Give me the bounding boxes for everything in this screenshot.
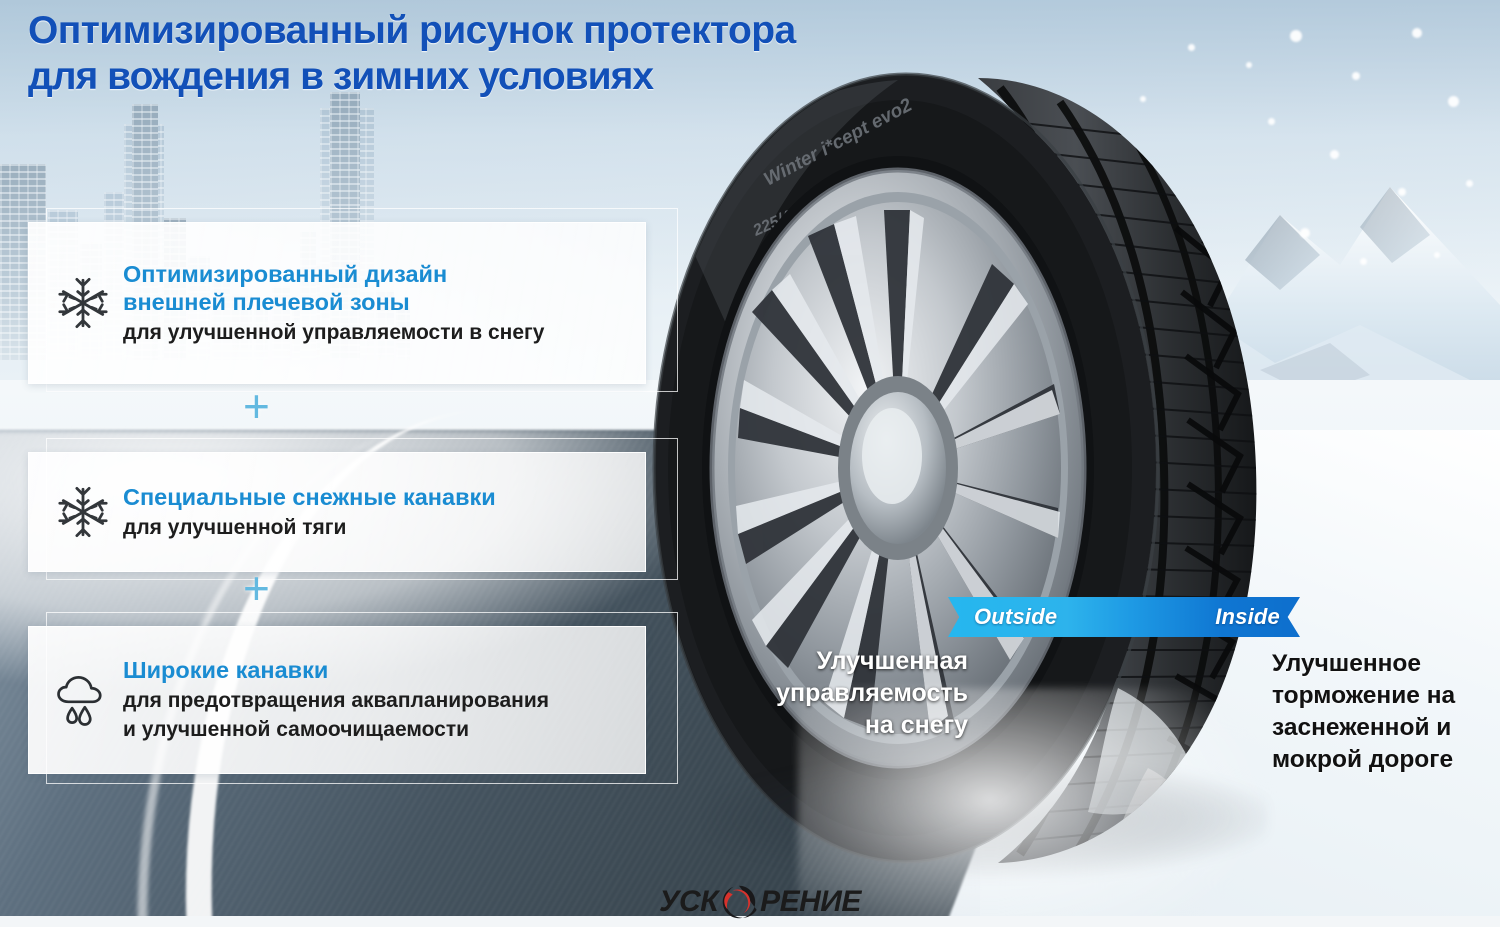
feature-card-wide-grooves[interactable]: Широкие канавки для предотвращения аквап… xyxy=(28,626,646,774)
caption-left-line-2: управляемость xyxy=(760,677,968,709)
snowflake-icon xyxy=(47,268,119,338)
separator-plus-2: + xyxy=(243,565,270,611)
feature-card-text: Специальные снежные канавки для улучшенн… xyxy=(119,483,496,541)
snowflake-icon xyxy=(47,477,119,547)
rain-cloud-icon xyxy=(47,665,119,735)
feature-card-text: Оптимизированный дизайн внешней плечевой… xyxy=(119,260,544,347)
logo-text-right: РЕНИЕ xyxy=(760,885,861,919)
caption-left-line-1: Улучшенная xyxy=(760,645,968,677)
feature-card-snow-shoulder[interactable]: Оптимизированный дизайн внешней плечевой… xyxy=(28,222,646,384)
feature-title: Широкие канавки xyxy=(123,656,549,685)
infographic-canvas: Winter i*cept evo2 225/40R18 95V xyxy=(0,0,1500,927)
feature-title: Оптимизированный дизайн xyxy=(123,260,544,289)
caption-right-line-3: заснеженной и xyxy=(1272,712,1496,744)
direction-band: Outside Inside xyxy=(948,597,1300,637)
feature-subtitle: для улучшенной управляемости в снегу xyxy=(123,320,544,346)
caption-handling: Улучшенная управляемость на снегу xyxy=(760,645,968,741)
feature-subtitle: для улучшенной тяги xyxy=(123,515,496,541)
feature-subtitle-line2: и улучшенной самоочищаемости xyxy=(123,717,549,743)
feature-card-snow-grooves[interactable]: Специальные снежные канавки для улучшенн… xyxy=(28,452,646,572)
tire-photo: Winter i*cept evo2 225/40R18 95V xyxy=(648,68,1328,878)
logo-text-left: УСК xyxy=(659,885,718,919)
feature-title: Специальные снежные канавки xyxy=(123,483,496,512)
feature-subtitle: для предотвращения аквапланирования xyxy=(123,688,549,714)
headline-line-1: Оптимизированный рисунок протектора xyxy=(28,9,796,52)
feature-title-line2: внешней плечевой зоны xyxy=(123,288,544,317)
separator-plus-1: + xyxy=(243,383,270,429)
outside-label: Outside xyxy=(974,604,1057,630)
caption-right-line-1: Улучшенное xyxy=(1272,648,1496,680)
feature-card-text: Широкие канавки для предотвращения аквап… xyxy=(119,656,549,743)
swirl-o-icon xyxy=(719,882,759,922)
caption-right-line-2: торможение на xyxy=(1272,680,1496,712)
caption-braking: Улучшенное торможение на заснеженной и м… xyxy=(1272,648,1496,775)
headline-line-2: для вождения в зимних условиях xyxy=(28,54,1028,100)
brand-logo[interactable]: УСК РЕНИЕ xyxy=(645,880,875,924)
caption-left-line-3: на снегу xyxy=(760,709,968,741)
inside-label: Inside xyxy=(1215,604,1280,630)
page-title: Оптимизированный рисунок протектора для … xyxy=(28,8,1028,100)
caption-right-line-4: мокрой дороге xyxy=(1272,744,1496,776)
